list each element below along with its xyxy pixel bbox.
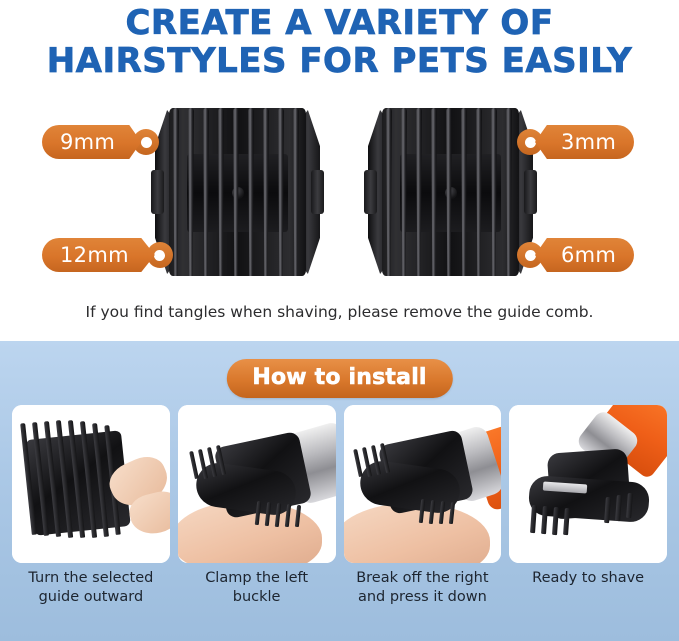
headline-line-1: CREATE A VARIETY OF xyxy=(125,3,553,43)
step-photo-comb-on-silver-clipper xyxy=(178,405,336,563)
step-card-3 xyxy=(344,405,502,563)
headline-line-2: HAIRSTYLES FOR PETS EASILY xyxy=(0,42,679,80)
size-badge-label: 3mm xyxy=(535,125,634,159)
photo-hand xyxy=(344,503,490,563)
size-badge-label: 9mm xyxy=(42,125,141,159)
comb-side-nub xyxy=(364,170,377,214)
comb-body xyxy=(382,108,519,276)
size-badge-3mm: 3mm xyxy=(517,125,634,159)
size-badge-6mm: 6mm xyxy=(517,238,634,272)
comb-side-nub xyxy=(524,170,537,214)
comb-teeth xyxy=(169,108,306,276)
photo-comb-tooth xyxy=(530,505,537,533)
step-photo-comb-on-orange-clipper xyxy=(344,405,502,563)
comb-tooth xyxy=(173,108,179,276)
photo-comb-tooth xyxy=(541,506,548,534)
step-caption-1: Turn the selected guide outward xyxy=(8,569,174,607)
photo-comb-tooth xyxy=(552,507,559,535)
size-badge-12mm: 12mm xyxy=(42,238,173,272)
step-caption-2: Clamp the left buckle xyxy=(174,569,340,607)
comb-tooth xyxy=(446,108,452,276)
infographic-page: CREATE A VARIETY OF HAIRSTYLES FOR PETS … xyxy=(0,0,679,641)
size-badge-label: 12mm xyxy=(42,238,155,272)
page-title: CREATE A VARIETY OF HAIRSTYLES FOR PETS … xyxy=(0,4,679,80)
comb-side-nub xyxy=(311,170,324,214)
comb-tooth xyxy=(203,108,209,276)
comb-side-nub xyxy=(151,170,164,214)
comb-tooth xyxy=(491,108,497,276)
size-badge-label: 6mm xyxy=(535,238,634,272)
step-caption-4: Ready to shave xyxy=(505,569,671,607)
step-card-1 xyxy=(12,405,170,563)
comb-tooth xyxy=(476,108,482,276)
comb-tooth xyxy=(293,108,299,276)
how-to-install-panel: How to install xyxy=(0,341,679,641)
step-caption-3: Break off the right and press it down xyxy=(340,569,506,607)
photo-comb-tooth xyxy=(353,449,363,477)
step-card-4 xyxy=(509,405,667,563)
step-captions: Turn the selected guide outward Clamp th… xyxy=(0,569,679,607)
comb-tooth xyxy=(386,108,392,276)
size-badge-9mm: 9mm xyxy=(42,125,159,159)
step-card-2 xyxy=(178,405,336,563)
photo-comb-tooth xyxy=(189,451,199,479)
install-steps xyxy=(0,405,679,565)
comb-tooth xyxy=(248,108,254,276)
tangles-note: If you find tangles when shaving, please… xyxy=(0,303,679,321)
comb-tooth xyxy=(431,108,437,276)
comb-tooth xyxy=(461,108,467,276)
comb-tooth xyxy=(506,108,512,276)
how-to-install-title: How to install xyxy=(226,359,452,398)
comb-tooth xyxy=(218,108,224,276)
comb-tooth xyxy=(263,108,269,276)
guide-comb-left xyxy=(155,108,320,276)
comb-tooth xyxy=(233,108,239,276)
step-photo-comb-in-fingers xyxy=(12,405,170,563)
comb-tooth xyxy=(278,108,284,276)
photo-comb-tooth xyxy=(563,508,570,535)
comb-tooth xyxy=(188,108,194,276)
comb-tooth xyxy=(416,108,422,276)
guide-comb-right xyxy=(368,108,533,276)
step-photo-clipper-with-blade xyxy=(509,405,667,563)
comb-body xyxy=(169,108,306,276)
comb-tooth xyxy=(401,108,407,276)
comb-teeth xyxy=(382,108,519,276)
